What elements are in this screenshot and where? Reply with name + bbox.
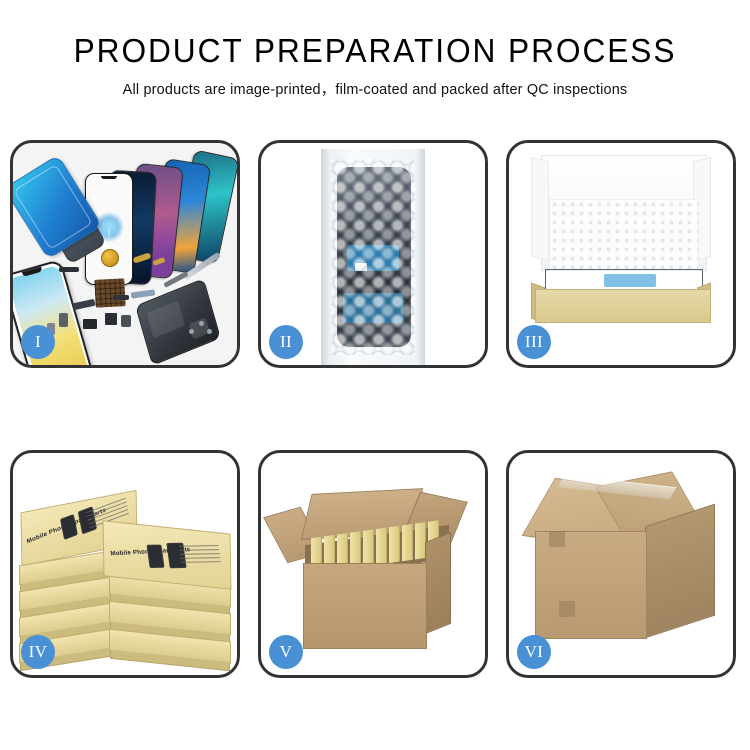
box-front-icon (535, 289, 711, 323)
yellow-box (389, 526, 400, 564)
yellow-box (376, 527, 387, 565)
process-step-1: I (10, 140, 240, 368)
sim-tray-icon (59, 313, 68, 327)
yellow-box (402, 524, 413, 562)
process-step-4: Mobile Phone Spare Parts Mobile Phone Sp… (10, 450, 240, 678)
connector-icon (113, 295, 129, 300)
process-step-6: VI (506, 450, 736, 678)
carton-side-icon (425, 532, 451, 635)
process-step-3: III (506, 140, 736, 368)
button-part-icon (121, 315, 131, 327)
process-step-grid: I II (10, 140, 740, 678)
notch-icon (101, 176, 117, 179)
carton-side-icon (645, 504, 715, 639)
step-badge-4: IV (21, 635, 55, 669)
step-badge-5: V (269, 635, 303, 669)
bubble-texture-overlay-icon (331, 159, 415, 355)
screw-icon (199, 321, 204, 326)
box-lid-left-icon (531, 157, 549, 261)
step-badge-1: I (21, 325, 55, 359)
step-badge-6: VI (517, 635, 551, 669)
process-step-2: II (258, 140, 488, 368)
step-badge-2: II (269, 325, 303, 359)
page-subtitle: All products are image-printed，film-coat… (4, 78, 747, 99)
carton-front-icon (303, 563, 427, 649)
yellow-box (363, 529, 374, 567)
step-badge-3: III (517, 325, 551, 359)
screw-icon (189, 329, 194, 334)
carton-seam-icon (559, 601, 575, 617)
process-step-5: V (258, 450, 488, 678)
blue-film-patch (604, 274, 656, 287)
bubble-wrap-sleeve (321, 149, 425, 365)
flex-cable-icon (59, 267, 79, 272)
carton-seam-icon (549, 531, 565, 547)
speaker-module-icon (101, 249, 119, 267)
screw-icon (207, 329, 212, 334)
page-title: PRODUCT PREPARATION PROCESS (15, 34, 735, 69)
foam-liner-icon (549, 199, 699, 271)
spec-lines-icon (179, 545, 221, 565)
camera-module-icon (83, 319, 97, 329)
chip-array-icon (94, 278, 125, 308)
phone-print-icon (147, 545, 165, 568)
carton-front-icon (535, 531, 647, 639)
vibration-motor-icon (105, 313, 117, 325)
page-header: PRODUCT PREPARATION PROCESS All products… (0, 0, 750, 99)
wrapped-parts-tray-icon (545, 269, 703, 291)
